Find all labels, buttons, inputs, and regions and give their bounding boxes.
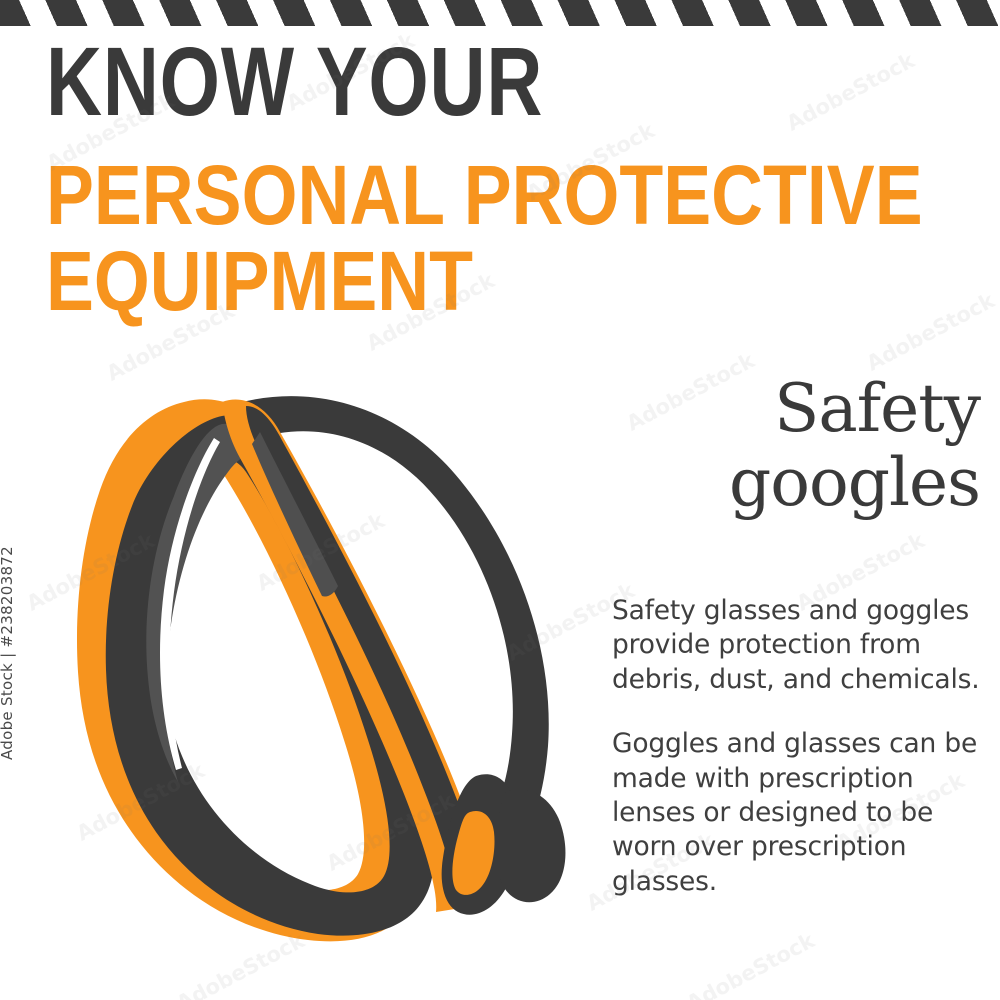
headline-title: PERSONAL PROTECTIVE EQUIPMENT	[46, 153, 841, 324]
headline-block: KNOW YOUR PERSONAL PROTECTIVE EQUIPMENT	[46, 34, 976, 324]
safety-goggles-illustration	[8, 372, 608, 972]
description-paragraph-1: Safety glasses and goggles provide prote…	[612, 594, 980, 697]
item-title-line2: googles	[612, 446, 980, 520]
stock-id-watermark: Adobe Stock | #238203872	[0, 546, 16, 760]
description-paragraph-2: Goggles and glasses can be made with pre…	[612, 727, 980, 899]
item-description: Safety glasses and goggles provide prote…	[612, 594, 980, 900]
caution-stripe-band	[0, 0, 1000, 26]
item-title-line1: Safety	[612, 372, 980, 446]
poster: KNOW YOUR PERSONAL PROTECTIVE EQUIPMENT	[0, 0, 1000, 1000]
right-column: Safety googles Safety glasses and goggle…	[612, 372, 980, 899]
headline-kicker: KNOW YOUR	[46, 34, 790, 129]
item-title: Safety googles	[612, 372, 980, 520]
goggles-strap-tail	[497, 790, 565, 903]
watermark-tile: AdobeStock	[683, 928, 819, 1000]
headline-title-line2: EQUIPMENT	[46, 239, 841, 325]
headline-title-line1: PERSONAL PROTECTIVE	[46, 148, 923, 242]
